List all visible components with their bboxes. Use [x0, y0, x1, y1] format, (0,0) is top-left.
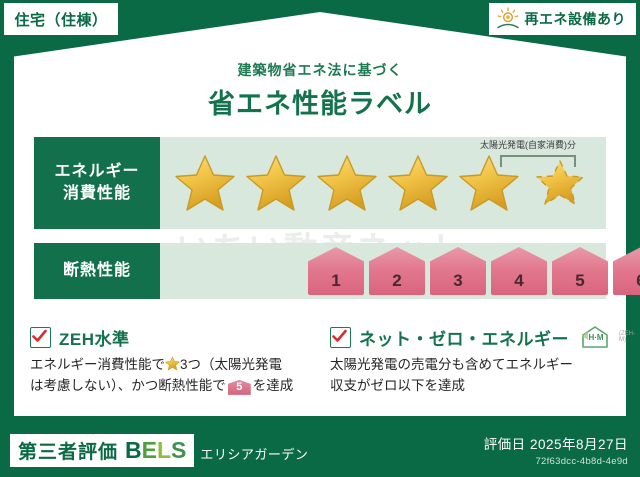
feature-nze-header: ネット・ゼロ・エネルギー H·M (ZEH-M) — [330, 325, 620, 349]
inline-star-icon — [165, 357, 180, 372]
zeh-desc-part3: を達成 — [253, 378, 294, 393]
evaluation-id: 72f63dcc-4b8d-4e9d — [484, 456, 628, 467]
star-icon-filled — [174, 153, 236, 213]
building-type-label: 住宅（住棟） — [14, 9, 107, 30]
insulation-performance-row: 断熱性能 1 2 3 4 5 6 7 — [34, 243, 606, 299]
checkmark-icon — [30, 327, 51, 348]
feature-zeh: ZEH水準 エネルギー消費性能で3つ（太陽光発電 は考慮しない）、かつ断熱性能で… — [30, 325, 320, 397]
star-icon-filled — [316, 153, 378, 213]
page-title: 省エネ性能ラベル — [0, 82, 640, 121]
energy-label-line1: エネルギー — [54, 161, 139, 183]
energy-performance-body: 太陽光発電(自家消費)分 — [160, 137, 606, 229]
bels-letter-s: S — [171, 437, 186, 463]
third-party-eval-label: 第三者評価 — [18, 437, 118, 464]
label-root: 住宅（住棟） 再エネ設備あり 建築物省エネ法に基づく 省エネ性能ラベル いちい動… — [0, 0, 640, 477]
feature-net-zero-energy: ネット・ゼロ・エネルギー H·M (ZEH-M) 太陽光発電の売電分も含めてエネ… — [330, 325, 620, 397]
bels-letter-l: L — [157, 437, 171, 463]
star-icon-filled — [387, 153, 449, 213]
svg-text:H·M: H·M — [588, 333, 603, 342]
solar-bracket — [500, 155, 576, 167]
energy-label-line2: 消費性能 — [63, 183, 131, 205]
grade-house-3: 3 — [430, 247, 486, 295]
energy-performance-row: エネルギー 消費性能 — [34, 137, 606, 229]
insulation-performance-body: 1 2 3 4 5 6 7 — [160, 243, 606, 299]
zeh-m-house-icon: H·M — [577, 324, 611, 350]
feature-zeh-description: エネルギー消費性能で3つ（太陽光発電 は考慮しない）、かつ断熱性能で5を達成 — [30, 355, 320, 397]
insulation-performance-label: 断熱性能 — [34, 243, 160, 299]
grade-house-5: 5 — [552, 247, 608, 295]
project-name: エリシアガーデン — [200, 444, 308, 467]
insulation-grade-scale: 1 2 3 4 5 6 7 — [160, 243, 606, 299]
star-icon-filled — [245, 153, 307, 213]
zeh-desc-star-count: 3つ（太陽光発電 — [180, 357, 282, 372]
renewable-equipment-badge: 再エネ設備あり — [489, 3, 637, 35]
nze-desc-line1: 太陽光発電の売電分も含めてエネルギー — [330, 357, 573, 372]
evaluation-date: 評価日 2025年8月27日 — [484, 433, 628, 453]
footer-right: 評価日 2025年8月27日 72f63dcc-4b8d-4e9d — [484, 433, 628, 467]
zeh-m-caption: (ZEH-M) — [619, 331, 635, 343]
checkmark-icon — [330, 327, 351, 348]
bels-letter-e: E — [142, 437, 157, 463]
sun-icon — [495, 7, 521, 31]
feature-zeh-header: ZEH水準 — [30, 325, 320, 349]
zeh-desc-part1: エネルギー消費性能で — [30, 357, 165, 372]
feature-nze-description: 太陽光発電の売電分も含めてエネルギー 収支がゼロ以下を達成 — [330, 355, 620, 397]
insulation-label-text: 断熱性能 — [63, 260, 131, 282]
solar-generation-note: 太陽光発電(自家消費)分 — [468, 141, 588, 151]
feature-zeh-title: ZEH水準 — [59, 325, 130, 350]
bels-letter-b: B — [125, 437, 142, 463]
grade-house-1: 1 — [308, 247, 364, 295]
bels-badge: 第三者評価 BELS — [10, 434, 194, 467]
footer-left: 第三者評価 BELS エリシアガーデン — [10, 434, 308, 467]
bels-logo: BELS — [125, 437, 186, 464]
feature-nze-title: ネット・ゼロ・エネルギー — [359, 325, 569, 350]
nze-desc-line2: 収支がゼロ以下を達成 — [330, 378, 465, 393]
label-subtitle: 建築物省エネ法に基づく — [0, 60, 640, 80]
building-type-badge: 住宅（住棟） — [4, 3, 118, 35]
inline-grade-badge: 5 — [228, 380, 251, 395]
zeh-desc-part2: は考慮しない）、かつ断熱性能で — [30, 378, 226, 393]
grade-house-4: 4 — [491, 247, 547, 295]
grade-house-2: 2 — [369, 247, 425, 295]
energy-performance-label: エネルギー 消費性能 — [34, 137, 160, 229]
renewable-badge-label: 再エネ設備あり — [525, 9, 627, 29]
